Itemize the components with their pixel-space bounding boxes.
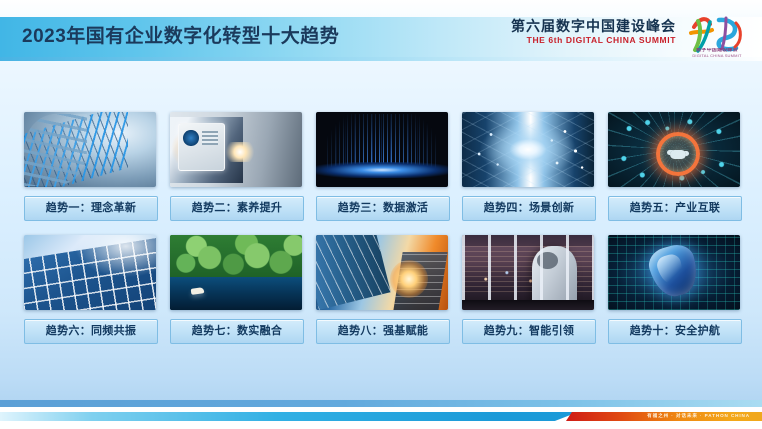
trend-label-10: 趋势十：安全护航 [608,319,742,344]
summit-name-cn: 第六届数字中国建设峰会 [511,19,676,33]
trend-label-5: 趋势五：产业互联 [608,196,742,221]
page-title: 2023年国有企业数字化转型十大趋势 [22,21,339,53]
trend-thumbnail-8 [316,235,448,310]
footer-tagline: 有福之州 · 对话未来 · PATHON CHINA [647,412,750,420]
trend-label-1: 趋势一：理念革新 [24,196,158,221]
trend-thumbnail-5 [608,112,740,187]
trend-thumbnail-6 [24,235,156,310]
trend-card[interactable]: 趋势四：场景创新 [462,112,594,221]
trend-card[interactable]: 趋势三：数据激活 [316,112,448,221]
trend-label-8: 趋势八：强基赋能 [316,319,450,344]
trend-thumbnail-7 [170,235,302,310]
trend-thumbnail-3 [316,112,448,187]
trend-thumbnail-1 [24,112,156,187]
trend-card[interactable]: 趋势五：产业互联 [608,112,740,221]
trend-label-9: 趋势九：智能引领 [462,319,596,344]
trend-thumbnail-9 [462,235,594,310]
trend-card[interactable]: 趋势一：理念革新 [24,112,156,221]
trend-thumbnail-10 [608,235,740,310]
summit-name-en: THE 6th DIGITAL CHINA SUMMIT [511,36,676,45]
trend-label-7: 趋势七：数实融合 [170,319,304,344]
trend-card[interactable]: 趋势九：智能引领 [462,235,594,344]
trend-label-2: 趋势二：素养提升 [170,196,304,221]
trend-label-4: 趋势四：场景创新 [462,196,596,221]
logo-caption: 数字中国建设峰会 DIGITAL CHINA SUMMIT [686,48,748,58]
trend-card[interactable]: 趋势二：素养提升 [170,112,302,221]
trend-card[interactable]: 趋势六：同频共振 [24,235,156,344]
trend-card[interactable]: 趋势十：安全护航 [608,235,740,344]
trend-card-grid: 趋势一：理念革新 趋势二：素养提升 趋势三：数据激活 趋势四：场景创新 趋势五： [24,112,740,344]
trend-label-3: 趋势三：数据激活 [316,196,450,221]
trend-thumbnail-4 [462,112,594,187]
trend-card[interactable]: 趋势八：强基赋能 [316,235,448,344]
footer-accent-bar-left [0,412,578,421]
footer-gradient-band [0,400,762,407]
logo-caption-en: DIGITAL CHINA SUMMIT [692,53,741,58]
trend-card[interactable]: 趋势七：数实融合 [170,235,302,344]
summit-branding: 第六届数字中国建设峰会 THE 6th DIGITAL CHINA SUMMIT [511,19,676,45]
trend-label-6: 趋势六：同频共振 [24,319,158,344]
presentation-slide: 2023年国有企业数字化转型十大趋势 第六届数字中国建设峰会 THE 6th D… [0,0,762,429]
trend-thumbnail-2 [170,112,302,187]
